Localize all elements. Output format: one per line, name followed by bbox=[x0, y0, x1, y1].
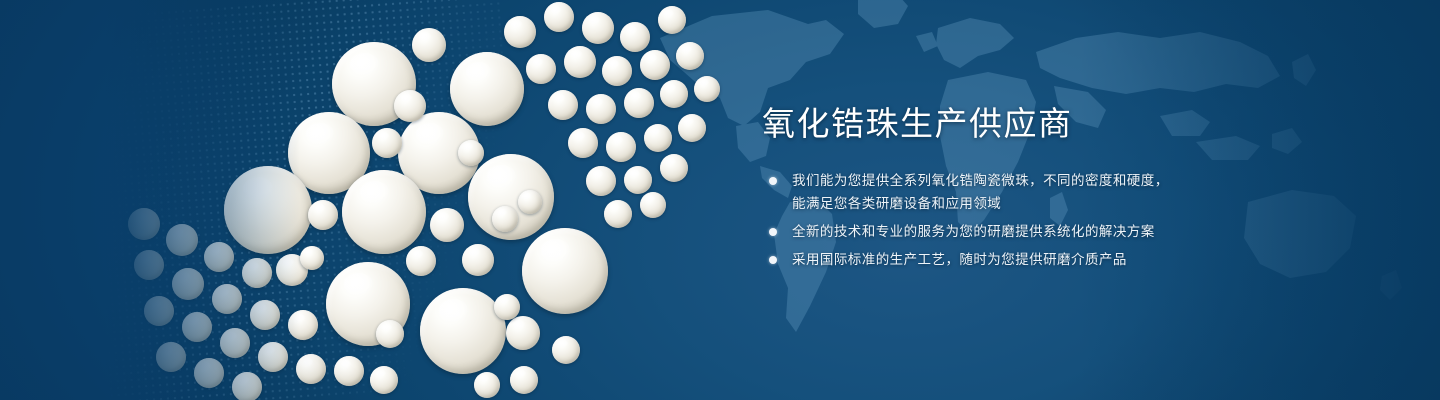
banner-content: 氧化锆珠生产供应商 我们能为您提供全系列氧化锆陶瓷微珠，不同的密度和硬度， 能满… bbox=[762, 104, 1322, 271]
bullet-dot-icon bbox=[769, 256, 777, 264]
bullet-line-primary: 采用国际标准的生产工艺，随时为您提供研磨介质产品 bbox=[792, 252, 1127, 267]
bullet-dot-icon bbox=[769, 228, 777, 236]
banner-headline: 氧化锆珠生产供应商 bbox=[762, 104, 1322, 144]
bullet-dot-icon bbox=[769, 177, 777, 185]
bullet-line-primary: 全新的技术和专业的服务为您的研磨提供系统化的解决方案 bbox=[792, 224, 1155, 239]
list-item: 全新的技术和专业的服务为您的研磨提供系统化的解决方案 bbox=[762, 220, 1322, 243]
bullet-line-secondary: 能满足您各类研磨设备和应用领域 bbox=[792, 192, 1322, 215]
list-item: 采用国际标准的生产工艺，随时为您提供研磨介质产品 bbox=[762, 248, 1322, 271]
bullet-line-primary: 我们能为您提供全系列氧化锆陶瓷微珠，不同的密度和硬度， bbox=[792, 173, 1169, 188]
promo-banner: 氧化锆珠生产供应商 我们能为您提供全系列氧化锆陶瓷微珠，不同的密度和硬度， 能满… bbox=[0, 0, 1440, 400]
banner-bullet-list: 我们能为您提供全系列氧化锆陶瓷微珠，不同的密度和硬度， 能满足您各类研磨设备和应… bbox=[762, 169, 1322, 271]
list-item: 我们能为您提供全系列氧化锆陶瓷微珠，不同的密度和硬度， 能满足您各类研磨设备和应… bbox=[762, 169, 1322, 215]
left-color-wash bbox=[0, 0, 300, 400]
